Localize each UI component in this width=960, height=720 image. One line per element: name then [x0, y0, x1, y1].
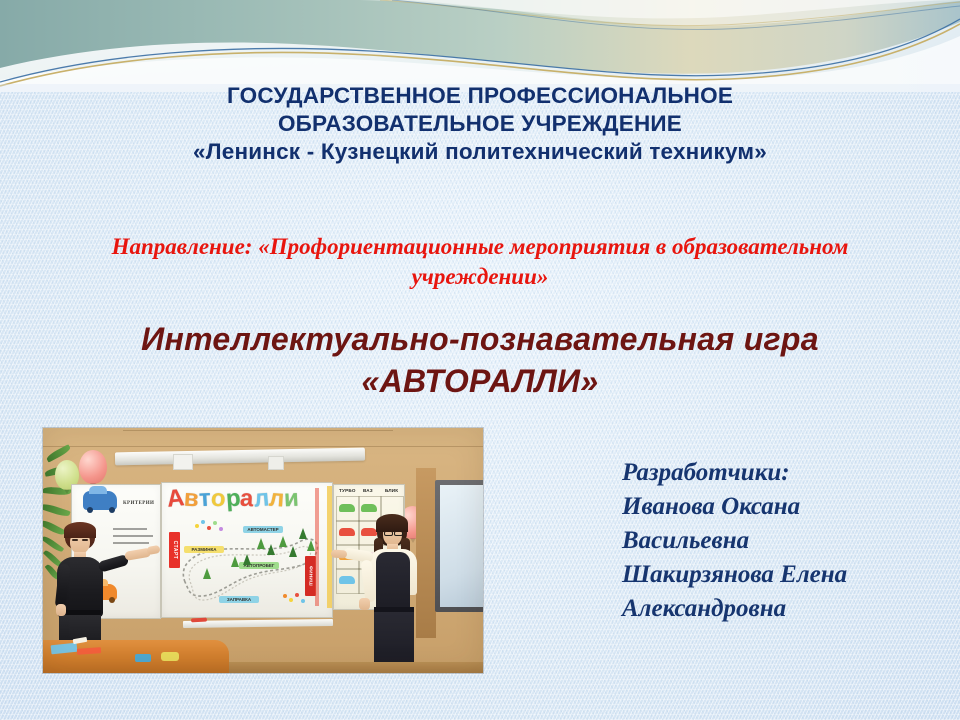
hair-top	[64, 522, 96, 538]
start-flag: СТАРТ	[169, 532, 180, 568]
tree-decoration	[299, 528, 307, 539]
direction-line1: Направление: «Профориентационные меропри…	[40, 232, 920, 262]
criteria-label: КРИТЕРИИ	[123, 501, 154, 506]
flower-decoration	[207, 526, 211, 530]
rail-bracket	[173, 454, 193, 470]
team-car-sticker	[361, 504, 377, 512]
tree-decoration	[279, 536, 287, 547]
game-title-line1: Интеллектуально-познавательная игра	[40, 318, 920, 360]
avtoralli-letter: о	[210, 485, 227, 512]
header-decoration	[0, 0, 960, 92]
institution-title-line1: ГОСУДАРСТВЕННОЕ ПРОФЕССИОНАЛЬНОЕ	[0, 82, 960, 110]
team-car-sticker	[339, 528, 355, 536]
team-car-sticker	[361, 528, 377, 536]
belt	[374, 607, 414, 612]
institution-title: ГОСУДАРСТВЕННОЕ ПРОФЕССИОНАЛЬНОЕ ОБРАЗОВ…	[0, 82, 960, 166]
flower-decoration	[201, 520, 205, 524]
start-label: СТАРТ	[172, 541, 178, 560]
event-photo: КРИТЕРИИ Авторалли СТАРТ ФИНИШ АВТОМАСТЕ…	[43, 428, 483, 673]
team-header-turbo: ТУРБО	[339, 488, 356, 493]
car-wheel	[109, 507, 115, 513]
desk-item-yellow	[161, 652, 179, 661]
developer-name-1: Иванова Оксана	[622, 490, 952, 524]
glasses	[72, 539, 78, 541]
flower-decoration	[301, 599, 305, 603]
tree-decoration	[231, 556, 239, 567]
direction-text: Направление: «Профориентационные меропри…	[40, 232, 920, 292]
blue-car-roof	[89, 486, 107, 494]
tree-decoration	[267, 544, 275, 555]
wall-seam	[43, 446, 483, 447]
institution-title-line3: «Ленинск - Кузнецкий политехнический тех…	[0, 138, 960, 166]
avtoralli-letter: л	[268, 485, 285, 512]
team-car-sticker	[339, 576, 355, 584]
rail-bracket	[268, 456, 284, 470]
developer-name-3: Шакирзянова Елена	[622, 558, 952, 592]
hand-left	[56, 604, 66, 616]
game-title: Интеллектуально-познавательная игра «АВТ…	[40, 318, 920, 402]
game-title-line2: «АВТОРАЛЛИ»	[40, 360, 920, 402]
skirt	[374, 610, 414, 666]
glasses	[82, 539, 88, 541]
team-header-blik: БЛИК	[385, 488, 398, 493]
direction-line2: учреждении»	[40, 262, 920, 292]
red-marker	[191, 618, 207, 623]
wall-trim	[416, 468, 436, 638]
car-wheel	[109, 597, 115, 603]
tree-decoration	[243, 554, 251, 565]
developers-heading: Разработчики:	[622, 456, 952, 490]
car-wheel	[87, 507, 93, 513]
presentation-slide: ГОСУДАРСТВЕННОЕ ПРОФЕССИОНАЛЬНОЕ ОБРАЗОВ…	[0, 0, 960, 720]
tree-decoration	[289, 546, 297, 557]
pointing-hand	[331, 549, 348, 558]
hair-top	[376, 514, 408, 532]
tree-decoration	[203, 568, 211, 579]
balloon-pink	[79, 450, 107, 484]
tree-decoration	[257, 538, 265, 549]
wall-seam	[123, 430, 393, 431]
pinafore	[376, 552, 410, 614]
flower-decoration	[195, 524, 199, 528]
flower-decoration	[283, 594, 287, 598]
interactive-whiteboard-screen	[440, 485, 483, 607]
flower-decoration	[295, 593, 299, 597]
institution-title-line2: ОБРАЗОВАТЕЛЬНОЕ УЧРЕЖДЕНИЕ	[0, 110, 960, 138]
station-banner: РАЗМИНКА	[184, 546, 224, 553]
team-car-sticker	[339, 504, 355, 512]
avtoralli-word: Авторалли	[167, 486, 327, 516]
criteria-lines	[113, 528, 153, 549]
developer-name-2: Васильевна	[622, 524, 952, 558]
team-header-vaz: ВАЗ	[363, 488, 373, 493]
station-banner: АВТОМАСТЕР	[243, 526, 283, 533]
tree-decoration	[307, 540, 315, 551]
board-side-strip	[315, 488, 319, 606]
flower-decoration	[213, 521, 217, 525]
hand-right	[359, 598, 370, 610]
flower-decoration	[219, 527, 223, 531]
board-side-strip	[327, 486, 332, 608]
developers-block: Разработчики: Иванова Оксана Васильевна …	[622, 456, 952, 626]
finish-label: ФИНИШ	[308, 566, 313, 586]
flower-decoration	[289, 598, 293, 602]
developer-name-4: Александровна	[622, 592, 952, 626]
desk-item-blue	[135, 654, 151, 662]
avtoralli-letter: а	[240, 486, 255, 513]
avtoralli-letter: и	[283, 486, 299, 513]
station-banner: ЗАПРАВКА	[219, 596, 259, 603]
